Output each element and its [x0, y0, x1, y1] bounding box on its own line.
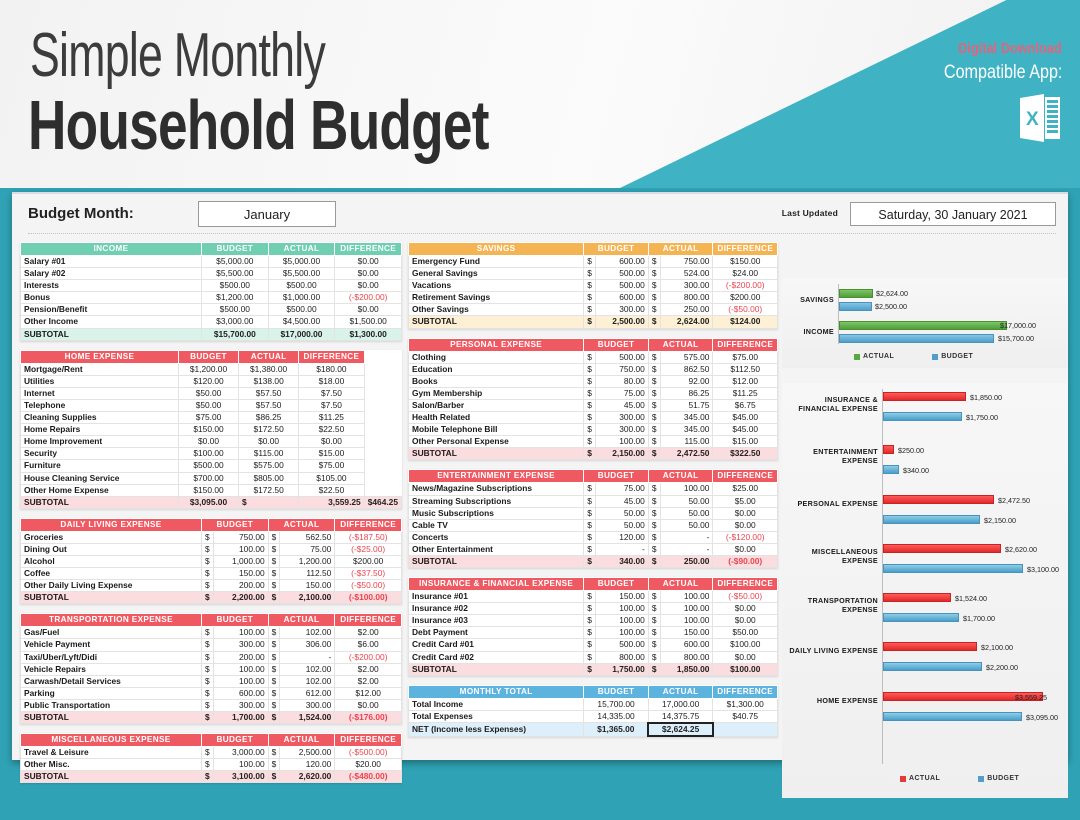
net-actual-cell[interactable]: $2,624.25: [648, 723, 713, 736]
chart2-legend: ACTUAL BUDGET: [900, 775, 1019, 782]
insurance-title: INSURANCE & FINANCIAL EXPENSE: [409, 578, 584, 591]
col-budget: BUDGET: [201, 518, 268, 531]
last-updated-label: Last Updated: [782, 208, 838, 218]
chart2-bar-2-actual: [883, 495, 994, 504]
title-line-2: Household Budget: [28, 85, 489, 165]
table-row: Emergency Fund$600.00$750.00$150.00: [409, 256, 778, 268]
table-row: Credit Card #01$500.00$600.00$100.00: [409, 639, 778, 651]
chart2-category-3: MISCELLANEOUS EXPENSE: [782, 548, 878, 565]
table-transportation-expense: TRANSPORTATION EXPENSE BUDGET ACTUAL DIF…: [20, 613, 402, 724]
col-actual: ACTUAL: [268, 518, 335, 531]
entertainment-rows: News/Magazine Subscriptions$75.00$100.00…: [409, 483, 778, 568]
subtotal-row: SUBTOTAL$2,500.00$2,624.00$124.00: [409, 316, 778, 328]
table-row: Concerts$120.00$-(-$120.00): [409, 531, 778, 543]
legend-swatch-green-icon: [854, 354, 860, 360]
chart2-label-2-budget: $2,150.00: [984, 516, 1016, 525]
home-expense-title: HOME EXPENSE: [21, 350, 179, 363]
chart2-label-1-actual: $250.00: [898, 446, 924, 455]
col-actual: ACTUAL: [648, 243, 713, 256]
title-line-1: Simple Monthly: [30, 20, 325, 91]
chart2-label-3-actual: $2,620.00: [1005, 545, 1037, 554]
col-budget: BUDGET: [584, 578, 649, 591]
net-row: NET (Income less Expenses)$1,365.00$2,62…: [409, 723, 778, 736]
charts-area: SAVINGS $2,624.00 $2,500.00 INCOME $17,0…: [782, 278, 1068, 798]
legend-swatch-blue-icon: [932, 354, 938, 360]
chart1-label-savings-budget: $2,500.00: [875, 302, 907, 311]
budget-month-input[interactable]: January: [198, 201, 336, 227]
table-row: Interests$500.00$500.00$0.00: [21, 280, 402, 292]
chart2-category-4: TRANSPORTATION EXPENSE: [782, 597, 878, 614]
table-savings: SAVINGS BUDGET ACTUAL DIFFERENCE Emergen…: [408, 242, 778, 329]
chart2-bar-4-budget: [883, 613, 959, 622]
transportation-title: TRANSPORTATION EXPENSE: [21, 614, 202, 627]
col-actual: ACTUAL: [268, 614, 335, 627]
col-actual: ACTUAL: [648, 338, 713, 351]
table-row: Taxi/Uber/Lyft/Didi$200.00$-(-$200.00): [21, 651, 402, 663]
table-personal-expense: PERSONAL EXPENSE BUDGET ACTUAL DIFFERENC…: [408, 338, 778, 461]
table-row: Vehicle Repairs$100.00$102.00$2.00: [21, 663, 402, 675]
chart1-category-income: INCOME: [782, 328, 834, 337]
table-row: Other Entertainment$-$-$0.00: [409, 543, 778, 555]
chart1-legend-actual: ACTUAL: [854, 353, 894, 360]
table-row: Credit Card #02$800.00$800.00$0.00: [409, 651, 778, 663]
monthly-total-rows: Total Income15,700.0017,000.00$1,300.00 …: [409, 698, 778, 736]
table-row: Other Daily Living Expense$200.00$150.00…: [21, 580, 402, 592]
chart2-bar-0-budget: [883, 412, 962, 421]
chart2-bar-3-actual: [883, 544, 1001, 553]
chart1-category-savings: SAVINGS: [782, 296, 834, 305]
table-row: Mobile Telephone Bill$300.00$345.00$45.0…: [409, 424, 778, 436]
table-row: Parking$600.00$612.00$12.00: [21, 687, 402, 699]
budget-worksheet: Budget Month: January Last Updated Satur…: [12, 192, 1068, 760]
subtotal-row: SUBTOTAL$1,700.00$1,524.00(-$176.00): [21, 712, 402, 724]
chart2-bar-4-actual: [883, 593, 951, 602]
table-row: Education$750.00$862.50$112.50: [409, 363, 778, 375]
legend-swatch-blue-icon: [978, 776, 984, 782]
table-row: Music Subscriptions$50.00$50.00$0.00: [409, 507, 778, 519]
chart1-legend-budget: BUDGET: [932, 353, 973, 360]
table-row: Insurance #03$100.00$100.00$0.00: [409, 615, 778, 627]
table-row: Bonus$1,200.00$1,000.00(-$200.00): [21, 292, 402, 304]
daily-living-rows: Groceries$750.00$562.50(-$187.50) Dining…: [21, 531, 402, 604]
savings-rows: Emergency Fund$600.00$750.00$150.00 Gene…: [409, 256, 778, 329]
chart-income-savings: SAVINGS $2,624.00 $2,500.00 INCOME $17,0…: [782, 278, 1068, 368]
col-budget: BUDGET: [584, 685, 649, 698]
table-row: News/Magazine Subscriptions$75.00$100.00…: [409, 483, 778, 495]
table-row: Insurance #02$100.00$100.00$0.00: [409, 603, 778, 615]
right-table-column: SAVINGS BUDGET ACTUAL DIFFERENCE Emergen…: [408, 242, 778, 746]
table-row: Other Home Expense$150.00$172.50$22.50: [21, 484, 402, 496]
chart2-label-1-budget: $340.00: [903, 466, 929, 475]
col-difference: DIFFERENCE: [713, 338, 778, 351]
chart2-bar-6-budget: [883, 712, 1022, 721]
col-budget: BUDGET: [201, 734, 268, 747]
table-row: Books$80.00$92.00$12.00: [409, 375, 778, 387]
chart2-bar-3-budget: [883, 564, 1023, 573]
chart2-bar-1-budget: [883, 465, 899, 474]
chart2-bar-5-actual: [883, 642, 977, 651]
col-actual: ACTUAL: [268, 734, 335, 747]
table-row: Coffee$150.00$112.50(-$37.50): [21, 568, 402, 580]
chart1-label-savings-actual: $2,624.00: [876, 289, 908, 298]
table-row: Other Misc.$100.00$120.00$20.00: [21, 759, 402, 771]
table-daily-living-expense: DAILY LIVING EXPENSE BUDGET ACTUAL DIFFE…: [20, 518, 402, 605]
col-difference: DIFFERENCE: [335, 734, 402, 747]
header-banner: Simple Monthly Household Budget Digital …: [0, 0, 1080, 188]
miscellaneous-title: MISCELLANEOUS EXPENSE: [21, 734, 202, 747]
chart1-legend: ACTUAL BUDGET: [854, 353, 973, 360]
col-actual: ACTUAL: [268, 243, 335, 256]
chart2-label-3-budget: $3,100.00: [1027, 565, 1059, 574]
table-insurance-financial-expense: INSURANCE & FINANCIAL EXPENSE BUDGET ACT…: [408, 577, 778, 676]
entertainment-title: ENTERTAINMENT EXPENSE: [409, 470, 584, 483]
col-difference: DIFFERENCE: [335, 243, 402, 256]
chart2-category-2: PERSONAL EXPENSE: [782, 500, 878, 509]
table-row: Utilities$120.00$138.00$18.00: [21, 375, 402, 387]
col-actual: ACTUAL: [648, 470, 713, 483]
col-budget: BUDGET: [584, 338, 649, 351]
table-row: Cable TV$50.00$50.00$0.00: [409, 519, 778, 531]
personal-title: PERSONAL EXPENSE: [409, 338, 584, 351]
income-title: INCOME: [21, 243, 202, 256]
table-row: Telephone$50.00$57.50$7.50: [21, 399, 402, 411]
chart1-bar-savings-budget: [839, 302, 872, 311]
table-row: Total Income15,700.0017,000.00$1,300.00: [409, 698, 778, 710]
table-row: Home Repairs$150.00$172.50$22.50: [21, 424, 402, 436]
table-row: Total Expenses14,335.0014,375.75$40.75: [409, 710, 778, 723]
table-row: Cleaning Supplies$75.00$86.25$11.25: [21, 412, 402, 424]
chart2-label-6-actual: $3,559.25: [1015, 693, 1047, 702]
left-table-column: INCOME BUDGET ACTUAL DIFFERENCE Salary #…: [20, 242, 402, 792]
banner-teal-wedge: [620, 0, 1080, 188]
table-income: INCOME BUDGET ACTUAL DIFFERENCE Salary #…: [20, 242, 402, 341]
table-row: Security$100.00$115.00$15.00: [21, 448, 402, 460]
subtotal-row: SUBTOTAL$2,200.00$2,100.00(-$100.00): [21, 592, 402, 604]
chart1-label-income-budget: $15,700.00: [998, 334, 1034, 343]
income-rows: Salary #01$5,000.00$5,000.00$0.00 Salary…: [21, 256, 402, 341]
table-row: Salary #02$5,500.00$5,500.00$0.00: [21, 268, 402, 280]
chart2-bar-0-actual: [883, 392, 966, 401]
home-expense-rows: Mortgage/Rent$1,200.00$1,380.00$180.00 U…: [21, 363, 402, 508]
table-row: Alcohol$1,000.00$1,200.00$200.00: [21, 555, 402, 567]
col-difference: DIFFERENCE: [713, 578, 778, 591]
subtotal-row: SUBTOTAL$15,700.00$17,000.00$1,300.00: [21, 328, 402, 340]
chart2-label-0-budget: $1,750.00: [966, 413, 998, 422]
table-row: Furniture$500.00$575.00$75.00: [21, 460, 402, 472]
subtotal-row: SUBTOTAL $3,095.00 $ 3,559.25 $464.25: [21, 496, 402, 508]
table-row: Insurance #01$150.00$100.00(-$50.00): [409, 591, 778, 603]
chart2-category-1: ENTERTAINMENT EXPENSE: [782, 448, 878, 465]
table-row: Dining Out$100.00$75.00(-$25.00): [21, 543, 402, 555]
table-miscellaneous-expense: MISCELLANEOUS EXPENSE BUDGET ACTUAL DIFF…: [20, 733, 402, 783]
insurance-rows: Insurance #01$150.00$100.00(-$50.00) Ins…: [409, 591, 778, 676]
chart-expenses: INSURANCE & FINANCIAL EXPENSE $1,850.00 …: [782, 383, 1068, 798]
col-budget: BUDGET: [584, 470, 649, 483]
table-row: Gym Membership$75.00$86.25$11.25: [409, 387, 778, 399]
col-difference: DIFFERENCE: [713, 685, 778, 698]
table-row: Groceries$750.00$562.50(-$187.50): [21, 531, 402, 543]
col-difference: DIFFERENCE: [713, 470, 778, 483]
subtotal-row: SUBTOTAL$1,750.00$1,850.00$100.00: [409, 663, 778, 675]
chart2-plot-background: [782, 383, 1068, 798]
table-home-expense: HOME EXPENSE BUDGET ACTUAL DIFFERENCE Mo…: [20, 350, 402, 509]
table-row: Home Improvement$0.00$0.00$0.00: [21, 436, 402, 448]
table-row: Salary #01$5,000.00$5,000.00$0.00: [21, 256, 402, 268]
table-row: Salon/Barber$45.00$51.75$6.75: [409, 399, 778, 411]
table-row: Gas/Fuel$100.00$102.00$2.00: [21, 627, 402, 639]
table-monthly-total: MONTHLY TOTAL BUDGET ACTUAL DIFFERENCE T…: [408, 685, 778, 737]
table-row: Mortgage/Rent$1,200.00$1,380.00$180.00: [21, 363, 402, 375]
chart2-label-5-budget: $2,200.00: [986, 663, 1018, 672]
subtotal-row: SUBTOTAL$340.00$250.00(-$90.00): [409, 555, 778, 567]
chart2-bar-5-budget: [883, 662, 982, 671]
table-row: Debt Payment$100.00$150.00$50.00: [409, 627, 778, 639]
table-row: Travel & Leisure$3,000.00$2,500.00(-$500…: [21, 747, 402, 759]
chart2-bar-2-budget: [883, 515, 980, 524]
table-row: Internet$50.00$57.50$7.50: [21, 387, 402, 399]
monthly-total-title: MONTHLY TOTAL: [409, 685, 584, 698]
col-budget: BUDGET: [201, 243, 268, 256]
chart2-category-0: INSURANCE & FINANCIAL EXPENSE: [782, 396, 878, 413]
table-row: Health Related$300.00$345.00$45.00: [409, 412, 778, 424]
savings-title: SAVINGS: [409, 243, 584, 256]
chart1-label-income-actual: $17,000.00: [1000, 321, 1036, 330]
chart2-bar-1-actual: [883, 445, 894, 454]
chart2-category-6: HOME EXPENSE: [782, 697, 878, 706]
excel-icon: X: [1018, 92, 1062, 144]
table-row: General Savings$500.00$524.00$24.00: [409, 268, 778, 280]
chart2-label-4-budget: $1,700.00: [963, 614, 995, 623]
chart1-bar-income-actual: [839, 321, 1007, 330]
table-row: Pension/Benefit$500.00$500.00$0.00: [21, 304, 402, 316]
chart2-category-5: DAILY LIVING EXPENSE: [782, 647, 878, 656]
table-row: Other Savings$300.00$250.00(-$50.00): [409, 304, 778, 316]
table-row: Retirement Savings$600.00$800.00$200.00: [409, 292, 778, 304]
compatible-app-label: Compatible App:: [943, 62, 1062, 84]
table-row: Streaming Subscriptions$45.00$50.00$5.00: [409, 495, 778, 507]
subtotal-row: SUBTOTAL$3,100.00$2,620.00(-$480.00): [21, 771, 402, 783]
col-difference: DIFFERENCE: [335, 518, 402, 531]
transportation-rows: Gas/Fuel$100.00$102.00$2.00 Vehicle Paym…: [21, 627, 402, 724]
chart2-label-4-actual: $1,524.00: [955, 594, 987, 603]
col-budget: BUDGET: [201, 614, 268, 627]
table-row: Other Personal Expense$100.00$115.00$15.…: [409, 436, 778, 448]
chart2-label-6-budget: $3,095.00: [1026, 713, 1058, 722]
table-entertainment-expense: ENTERTAINMENT EXPENSE BUDGET ACTUAL DIFF…: [408, 469, 778, 568]
chart2-label-0-actual: $1,850.00: [970, 393, 1002, 402]
daily-living-title: DAILY LIVING EXPENSE: [21, 518, 202, 531]
chart1-bar-income-budget: [839, 334, 994, 343]
table-row: Public Transportation$300.00$300.00$0.00: [21, 699, 402, 711]
table-row: Clothing$500.00$575.00$75.00: [409, 351, 778, 363]
digital-download-label: Digital Download: [959, 40, 1062, 57]
col-actual: ACTUAL: [239, 350, 299, 363]
col-actual: ACTUAL: [648, 685, 713, 698]
chart2-legend-budget: BUDGET: [978, 775, 1019, 782]
budget-month-label: Budget Month:: [28, 205, 134, 222]
table-row: Carwash/Detail Services$100.00$102.00$2.…: [21, 675, 402, 687]
legend-swatch-red-icon: [900, 776, 906, 782]
table-row: House Cleaning Service$700.00$805.00$105…: [21, 472, 402, 484]
col-difference: DIFFERENCE: [713, 243, 778, 256]
chart2-label-5-actual: $2,100.00: [981, 643, 1013, 652]
miscellaneous-rows: Travel & Leisure$3,000.00$2,500.00(-$500…: [21, 747, 402, 783]
col-difference: DIFFERENCE: [299, 350, 365, 363]
svg-text:X: X: [1026, 109, 1039, 130]
worksheet-header: Budget Month: January Last Updated Satur…: [12, 194, 1068, 236]
col-budget: BUDGET: [178, 350, 238, 363]
col-actual: ACTUAL: [648, 578, 713, 591]
chart2-label-2-actual: $2,472.50: [998, 496, 1030, 505]
header-divider: [28, 233, 1056, 234]
personal-rows: Clothing$500.00$575.00$75.00 Education$7…: [409, 351, 778, 460]
last-updated-value[interactable]: Saturday, 30 January 2021: [850, 202, 1056, 226]
subtotal-row: SUBTOTAL$2,150.00$2,472.50$322.50: [409, 448, 778, 460]
col-difference: DIFFERENCE: [335, 614, 402, 627]
chart1-bar-savings-actual: [839, 289, 873, 298]
chart2-legend-actual: ACTUAL: [900, 775, 940, 782]
col-budget: BUDGET: [584, 243, 649, 256]
table-row: Other Income$3,000.00$4,500.00$1,500.00: [21, 316, 402, 328]
table-row: Vehicle Payment$300.00$306.00$6.00: [21, 639, 402, 651]
table-row: Vacations$500.00$300.00(-$200.00): [409, 280, 778, 292]
